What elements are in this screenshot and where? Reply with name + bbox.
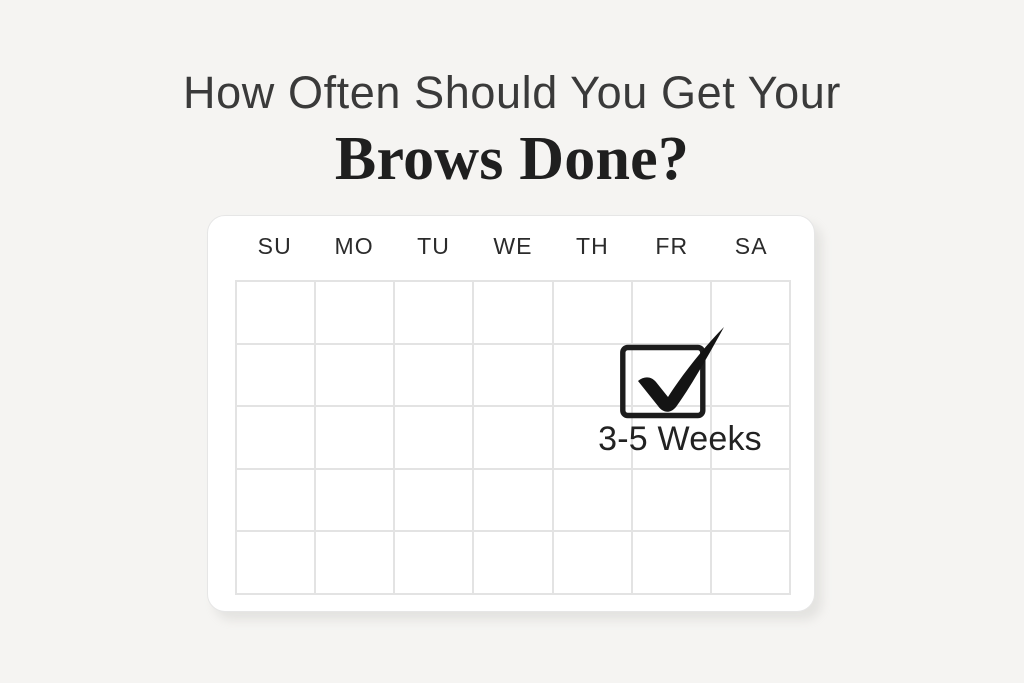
weekday-su: SU xyxy=(235,233,314,260)
calendar-card: SU MO TU WE TH FR SA xyxy=(207,215,815,612)
calendar-cell[interactable] xyxy=(395,282,474,345)
calendar-cell[interactable] xyxy=(395,532,474,595)
calendar-cell[interactable] xyxy=(554,345,633,408)
calendar-cell-marked[interactable] xyxy=(633,345,712,408)
calendar-cell[interactable] xyxy=(316,532,395,595)
calendar-cell[interactable] xyxy=(712,345,791,408)
calendar-cell[interactable] xyxy=(712,282,791,345)
weekday-sa: SA xyxy=(712,233,791,260)
calendar-cell[interactable] xyxy=(316,282,395,345)
weekday-we: WE xyxy=(473,233,552,260)
weekday-mo: MO xyxy=(314,233,393,260)
calendar-cell[interactable] xyxy=(395,407,474,470)
page-title-line-2: Brows Done? xyxy=(0,125,1024,194)
calendar-cell[interactable] xyxy=(316,470,395,533)
calendar-cell[interactable] xyxy=(474,470,553,533)
calendar-cell[interactable] xyxy=(237,282,316,345)
calendar-cell[interactable] xyxy=(395,470,474,533)
calendar-cell[interactable] xyxy=(712,532,791,595)
calendar-cell[interactable] xyxy=(474,282,553,345)
calendar-cell[interactable] xyxy=(237,407,316,470)
page-title: How Often Should You Get Your Brows Done… xyxy=(0,66,1024,195)
calendar-cell[interactable] xyxy=(474,532,553,595)
weekday-fr: FR xyxy=(632,233,711,260)
calendar-cell[interactable] xyxy=(712,407,791,470)
calendar-cell[interactable] xyxy=(395,345,474,408)
calendar-cell[interactable] xyxy=(633,532,712,595)
calendar-cell[interactable] xyxy=(474,345,553,408)
calendar-grid xyxy=(235,280,791,595)
calendar-cell[interactable] xyxy=(554,532,633,595)
page-title-line-1: How Often Should You Get Your xyxy=(0,66,1024,119)
calendar-cell[interactable] xyxy=(633,282,712,345)
calendar-cell[interactable] xyxy=(237,345,316,408)
calendar-cell[interactable] xyxy=(554,282,633,345)
calendar-cell[interactable] xyxy=(554,470,633,533)
calendar-cell[interactable] xyxy=(554,407,633,470)
weekday-tu: TU xyxy=(394,233,473,260)
calendar-cell[interactable] xyxy=(316,407,395,470)
weekday-th: TH xyxy=(553,233,632,260)
calendar-cell[interactable] xyxy=(237,532,316,595)
calendar-cell[interactable] xyxy=(316,345,395,408)
calendar-cell[interactable] xyxy=(712,470,791,533)
calendar-weekday-header: SU MO TU WE TH FR SA xyxy=(235,233,791,260)
calendar-cell[interactable] xyxy=(633,470,712,533)
calendar-cell[interactable] xyxy=(633,407,712,470)
calendar-cell[interactable] xyxy=(474,407,553,470)
calendar-cell[interactable] xyxy=(237,470,316,533)
